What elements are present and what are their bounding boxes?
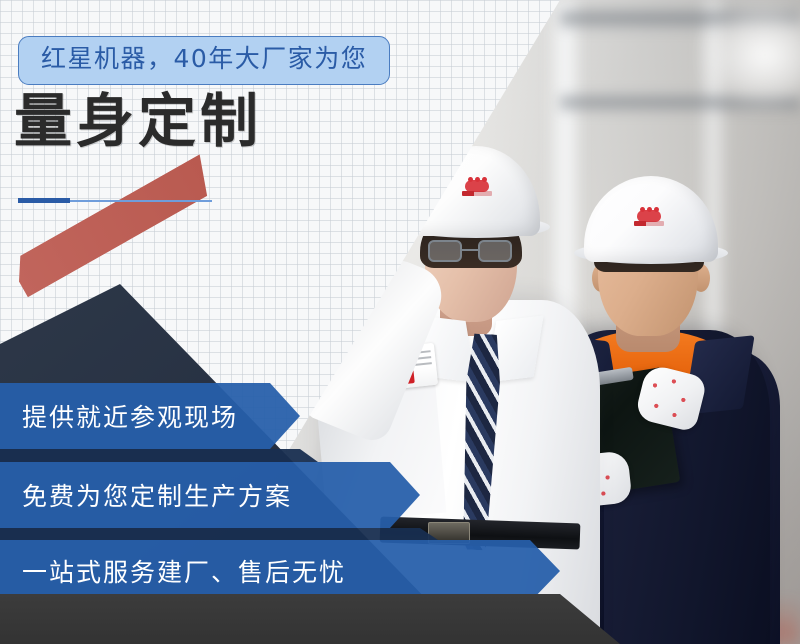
- feature-banner-1: 提供就近参观现场: [0, 383, 300, 449]
- company-logo-icon: [462, 176, 492, 196]
- eyeglasses-icon: [428, 240, 514, 262]
- tagline-badge: 红星机器，40年大厂家为您: [18, 36, 390, 85]
- feature-banner-1-label: 提供就近参观现场: [22, 398, 238, 434]
- feature-banner-separator-2: [0, 528, 438, 540]
- company-logo-icon: [634, 206, 664, 226]
- feature-banner-3: 一站式服务建厂、售后无忧: [0, 540, 560, 602]
- headline-rule-thick: [18, 198, 70, 203]
- feature-banner-separator-1: [0, 449, 318, 462]
- feature-banner-2: 免费为您定制生产方案: [0, 462, 420, 528]
- page-title: 量身定制: [14, 92, 262, 150]
- banner-stage: 红星机器，40年大厂家为您 量身定制 提供就近参观现场 免费为您定制生产方案 一…: [0, 0, 800, 644]
- feature-banner-3-label: 一站式服务建厂、售后无忧: [22, 553, 346, 589]
- headline-rule-thin: [60, 200, 212, 202]
- feature-banner-2-label: 免费为您定制生产方案: [22, 477, 292, 513]
